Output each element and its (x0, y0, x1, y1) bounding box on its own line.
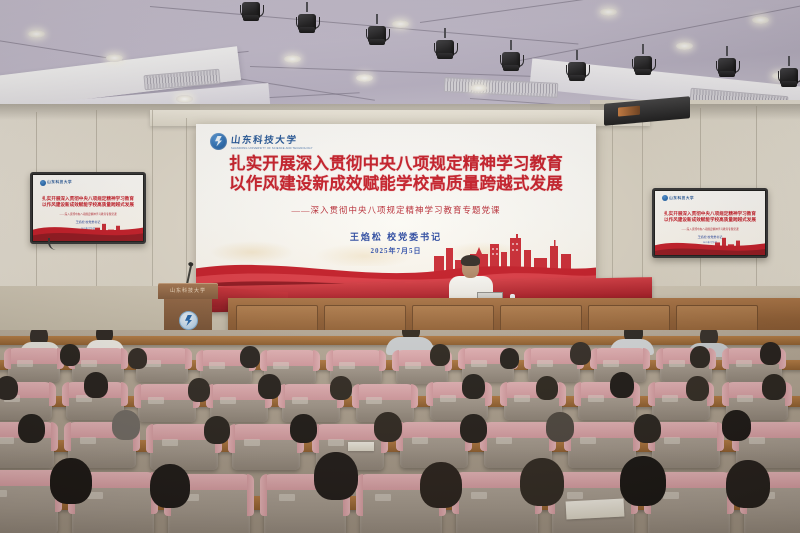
audience-head (314, 452, 358, 500)
podium-name-plate: 山东科技大学 (164, 287, 212, 294)
audience-head (60, 344, 80, 366)
audience-head (610, 372, 634, 398)
audience-head (150, 464, 190, 508)
monitor-logo-text: 山东科技大学 (47, 180, 72, 185)
monitor-cable-left (48, 238, 72, 250)
downlight-icon (600, 8, 617, 16)
audience-head (188, 378, 210, 402)
audience-head (460, 414, 487, 443)
auditorium-seat (8, 352, 60, 382)
main-projection-screen: 山东科技大学 SHANDONG UNIVERSITY OF SCIENCE AN… (196, 124, 596, 292)
audience-head (50, 458, 92, 504)
university-emblem-icon (40, 180, 46, 186)
auditorium-seat (400, 426, 468, 468)
audience-head (536, 376, 558, 400)
audience-head (430, 344, 450, 366)
slide-university-logo: 山东科技大学 SHANDONG UNIVERSITY OF SCIENCE AN… (210, 132, 313, 150)
monitor-logo: 山东科技大学 (662, 195, 695, 201)
stage-light-icon (778, 62, 800, 88)
slide-subtitle: ——深入贯彻中央八项规定精神学习教育专题党课 (196, 204, 596, 216)
monitor-title-line-2: 以作风建设新成效赋能学校高质量跨越式发展 (33, 202, 143, 208)
monitor-logo-text: 山东科技大学 (669, 196, 694, 201)
audience-head (690, 346, 710, 368)
audience-head (726, 460, 770, 508)
stage-light-icon (632, 50, 654, 76)
monitor-subtitle: ——深入贯彻中央八项规定精神学习教育专题党课 (655, 227, 765, 231)
left-wall-monitor: 山东科技大学 扎实开展深入贯彻中央八项规定精神学习教育 以作风建设新成效赋能学校… (30, 172, 146, 244)
audience-head (500, 348, 519, 369)
downlight-icon (392, 20, 409, 28)
audience-head (546, 412, 574, 442)
university-emblem-icon (662, 195, 668, 201)
monitor-ribbon-graphic (655, 235, 765, 255)
slide-logo-text-en: SHANDONG UNIVERSITY OF SCIENCE AND TECHN… (231, 147, 313, 150)
monitor-title-line-2: 以作风建设新成效赋能学校高质量跨越式发展 (655, 217, 765, 223)
downlight-icon (676, 42, 693, 50)
audience-head (204, 416, 230, 444)
audience-head (760, 342, 781, 365)
downlight-icon (752, 16, 769, 24)
slide-title: 扎实开展深入贯彻中央八项规定精神学习教育 以作风建设新成效赋能学校高质量跨越式发… (196, 154, 596, 194)
audience-head (128, 348, 147, 369)
audience-head (620, 456, 666, 506)
stage-light-icon (566, 56, 588, 82)
downlight-icon (356, 74, 373, 82)
stage-light-icon (240, 0, 262, 22)
document-on-desk (348, 442, 374, 451)
downlight-icon (106, 54, 123, 62)
audience-head (84, 372, 108, 398)
slide-title-line-1: 扎实开展深入贯彻中央八项规定精神学习教育 (196, 154, 596, 174)
document-on-desk (566, 498, 625, 519)
lecture-hall-photo: 山东科技大学 SHANDONG UNIVERSITY OF SCIENCE AN… (0, 0, 800, 533)
audience-head (18, 414, 45, 443)
audience-head (686, 376, 709, 401)
downlight-icon (176, 95, 193, 103)
audience-head (462, 374, 485, 399)
audience-head (258, 374, 281, 399)
audience-head (374, 412, 402, 442)
audience-head (112, 410, 140, 440)
audience-seating (0, 330, 800, 533)
audience-head (240, 346, 260, 368)
audience-head (290, 414, 317, 443)
monitor-subtitle: ——深入贯彻中央八项规定精神学习教育专题党课 (33, 212, 143, 216)
monitor-title: 扎实开展深入贯彻中央八项规定精神学习教育 以作风建设新成效赋能学校高质量跨越式发… (655, 211, 765, 223)
audience-head (570, 342, 591, 365)
audience-head (520, 458, 564, 506)
audience-head (330, 376, 352, 400)
monitor-logo: 山东科技大学 (40, 180, 73, 186)
slide-title-line-2: 以作风建设新成效赋能学校高质量跨越式发展 (196, 174, 596, 194)
auditorium-seat (652, 426, 720, 468)
stage-light-icon (500, 46, 522, 72)
downlight-icon (28, 30, 45, 38)
downlight-icon (284, 55, 301, 63)
right-wall-monitor: 山东科技大学 扎实开展深入贯彻中央八项规定精神学习教育 以作风建设新成效赋能学校… (652, 188, 768, 258)
audience-head (722, 410, 751, 441)
stage-light-icon (434, 34, 456, 60)
audience-head (420, 462, 462, 508)
monitor-title: 扎实开展深入贯彻中央八项规定精神学习教育 以作风建设新成效赋能学校高质量跨越式发… (33, 196, 143, 208)
stage-light-icon (366, 20, 388, 46)
university-emblem-icon (179, 311, 198, 330)
university-emblem-icon (210, 133, 227, 150)
audience-head (0, 376, 18, 400)
audience-head (634, 414, 661, 443)
audience-head (762, 374, 786, 400)
stage-light-icon (716, 52, 738, 78)
slide-logo-text: 山东科技大学 (230, 132, 313, 146)
stage-light-icon (296, 8, 318, 34)
downlight-icon (470, 84, 487, 92)
slide-content: 山东科技大学 SHANDONG UNIVERSITY OF SCIENCE AN… (196, 124, 596, 292)
